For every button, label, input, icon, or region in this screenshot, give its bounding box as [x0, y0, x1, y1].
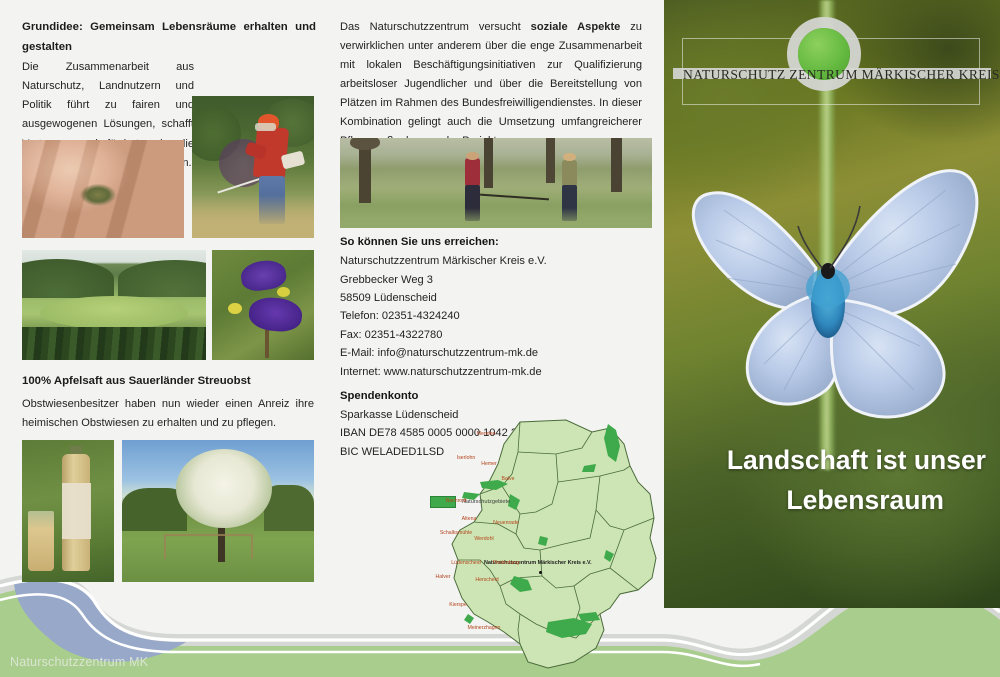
- map-city-label-altena: Altena: [462, 516, 477, 522]
- photo-gentian-flowers: [212, 250, 314, 360]
- watermark-text: Naturschutzzentrum MK: [10, 655, 148, 669]
- cover-title-line2: Lebensraum: [660, 480, 1000, 520]
- left-section2-heading: 100% Apfelsaft aus Sauerländer Streuobst: [22, 372, 314, 392]
- mid-intro-paragraph: Das Naturschutzzentrum versucht soziale …: [340, 18, 642, 152]
- mid-intro-bold: soziale Aspekte: [531, 21, 621, 33]
- contact-line-website[interactable]: Internet: www.naturschutzzentrum-mk.de: [340, 363, 646, 381]
- brochure-page: Grundidee: Gemeinsam Lebensräume erhalte…: [0, 0, 1000, 677]
- photo-toad-in-hand: [22, 140, 184, 238]
- contact-heading: So können Sie uns erreichen:: [340, 232, 646, 252]
- mid-intro-post: zu verwirklichen unter anderem über die …: [340, 21, 642, 147]
- map-city-label-plettenberg: Plettenberg: [493, 560, 520, 566]
- mid-intro-pre: Das Naturschutzzentrum versucht: [340, 21, 531, 33]
- photo-worker-brushcutter: [192, 96, 314, 238]
- photo-blossoming-apple-tree: [122, 440, 314, 582]
- map-city-label-menden: Menden: [477, 431, 496, 437]
- left-section2-block: 100% Apfelsaft aus Sauerländer Streuobst…: [22, 372, 314, 433]
- photo-valley-meadow: [22, 250, 206, 360]
- donation-heading: Spendenkonto: [340, 386, 646, 406]
- photo-youths-landscape-work: [340, 138, 652, 228]
- map-city-label-hemer: Hemer: [481, 461, 497, 467]
- organization-logo: NATURSCHUTZ ZENTRUM MÄRKISCHER KREIS E.V…: [682, 38, 980, 105]
- contact-line-phone: Telefon: 02351-4324240: [340, 307, 646, 325]
- map-city-label-balve: Balve: [502, 476, 515, 482]
- map-city-label-meinerzhagen: Meinerzhagen: [468, 625, 501, 631]
- map-city-label-kierspe: Kierspe: [449, 602, 467, 608]
- map-legend-label: Naturschutzgebiete: [462, 499, 510, 505]
- contact-line-email[interactable]: E-Mail: info@naturschutzzentrum-mk.de: [340, 344, 646, 362]
- contact-line-street: Grebbecker Weg 3: [340, 271, 646, 289]
- left-section2-body: Obstwiesenbesitzer haben nun wieder eine…: [22, 395, 314, 433]
- map-city-label-schalksm-hle: Schalksmühle: [440, 530, 472, 536]
- common-blue-butterfly-icon: [660, 128, 1000, 458]
- left-section1-heading: Grundidee: Gemeinsam Lebensräume erhalte…: [22, 18, 316, 57]
- cover-panel: NATURSCHUTZ ZENTRUM MÄRKISCHER KREIS E.V…: [660, 0, 1000, 677]
- map-city-label-nachrodt: Nachrodt: [445, 498, 466, 504]
- contact-line-org: Naturschutzzentrum Märkischer Kreis e.V.: [340, 252, 646, 270]
- contact-line-fax: Fax: 02351-4322780: [340, 326, 646, 344]
- map-city-label-halver: Halver: [436, 574, 451, 580]
- cover-title-line1: Landschaft ist unser: [660, 440, 1000, 480]
- map-city-label-herscheid: Herscheid: [475, 577, 498, 583]
- cover-title: Landschaft ist unser Lebensraum: [660, 440, 1000, 521]
- district-map: Naturschutzgebiete Naturschutzzentrum Mä…: [424, 418, 670, 677]
- map-center-marker: [539, 571, 542, 574]
- map-city-label-werdohl: Werdohl: [474, 536, 493, 542]
- map-city-label-l-denscheid: Lüdenscheid: [451, 560, 480, 566]
- map-city-label-neuenrade: Neuenrade: [493, 520, 519, 526]
- photo-apple-juice-bottle: [22, 440, 114, 582]
- logo-text: NATURSCHUTZ ZENTRUM MÄRKISCHER KREIS E.V…: [683, 67, 981, 83]
- contact-line-city: 58509 Lüdenscheid: [340, 289, 646, 307]
- map-city-label-iserlohn: Iserlohn: [457, 455, 475, 461]
